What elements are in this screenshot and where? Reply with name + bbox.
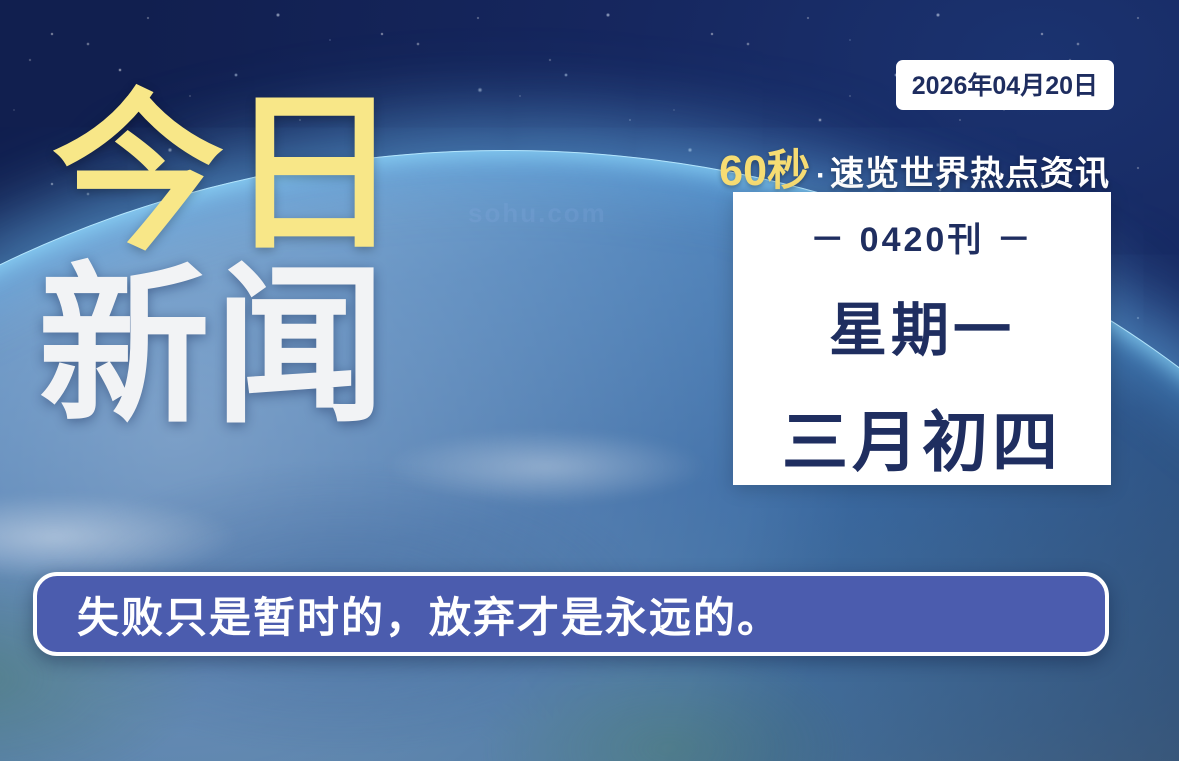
page-title-line-2: 新闻: [38, 265, 404, 430]
date-badge: 2026年04月20日: [896, 60, 1114, 110]
tagline-seconds: 60秒: [719, 136, 810, 198]
issue-info-card: － 0420刊 － 星期一 三月初四: [733, 192, 1111, 485]
quote-text: 失败只是暂时的，放弃才是永远的。: [77, 584, 781, 645]
page-title-line-1: 今日: [52, 92, 404, 257]
quote-bar: 失败只是暂时的，放弃才是永远的。: [33, 572, 1109, 656]
issue-number: － 0420刊 －: [810, 212, 1034, 261]
news-poster: sohu.com 今日 新闻 2026年04月20日 60秒 · 速览世界热点资…: [0, 0, 1179, 761]
weekday-label: 星期一: [829, 283, 1015, 367]
site-watermark: sohu.com: [468, 198, 607, 229]
tagline-separator: ·: [816, 159, 826, 193]
tagline: 60秒 · 速览世界热点资讯: [719, 136, 1110, 198]
lunar-date-label: 三月初四: [782, 389, 1062, 485]
page-title: 今日 新闻: [52, 92, 404, 430]
tagline-description: 速览世界热点资讯: [830, 146, 1110, 195]
